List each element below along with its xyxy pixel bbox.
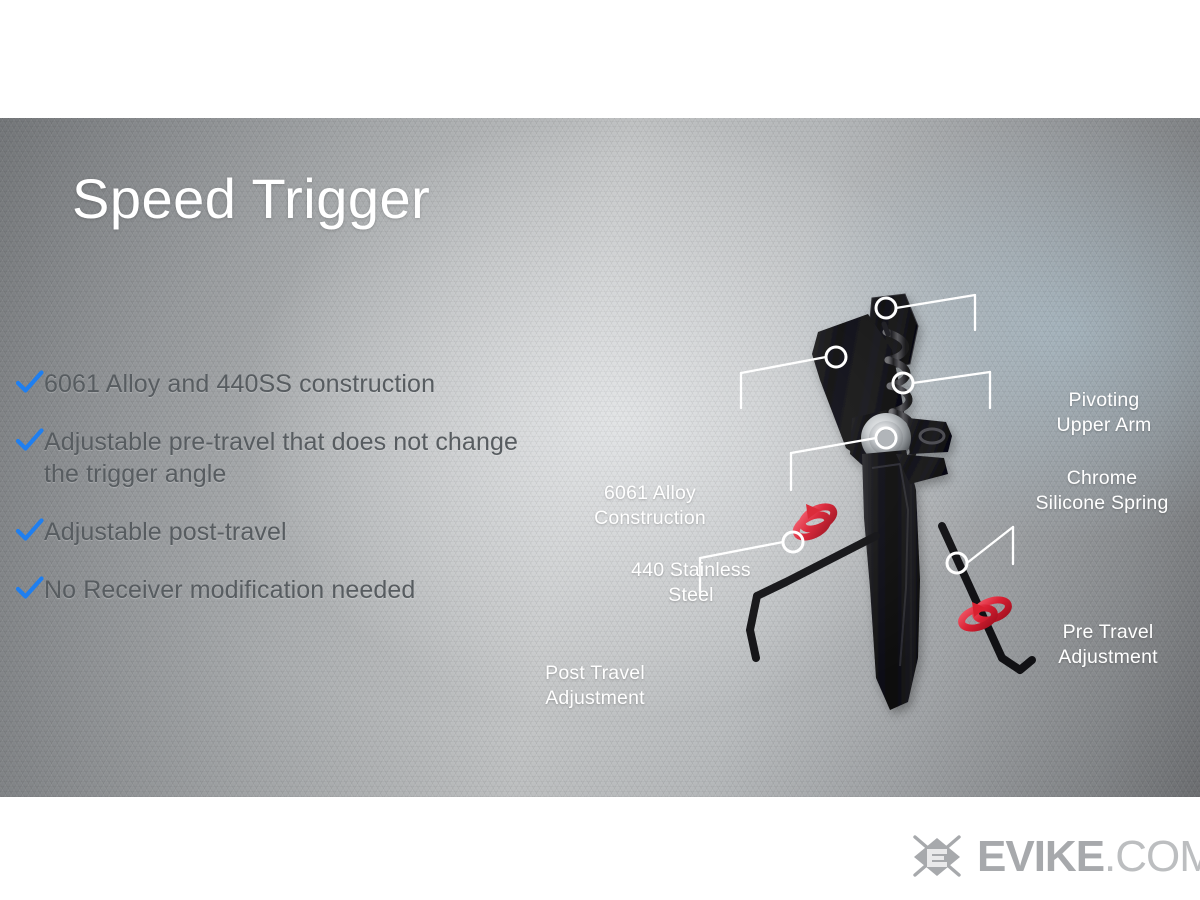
- evike-suffix: .COM: [1104, 832, 1200, 881]
- callout-line-1: Pivoting: [1016, 388, 1192, 413]
- page-title: Speed Trigger: [72, 166, 430, 231]
- callout-line-2: Adjustment: [500, 686, 690, 711]
- callout-line-1: 6061 Alloy: [560, 481, 740, 506]
- callout-pivoting-upper-arm: Pivoting Upper Arm: [1016, 388, 1192, 439]
- check-icon: [16, 428, 44, 454]
- list-item-label: Adjustable pre-travel that does not chan…: [44, 426, 526, 490]
- callout-pre-travel-adjustment: Pre Travel Adjustment: [1028, 620, 1188, 671]
- callout-line-1: Pre Travel: [1028, 620, 1188, 645]
- list-item-label: No Receiver modification needed: [44, 574, 415, 606]
- callout-line-2: Construction: [560, 506, 740, 531]
- callout-line-2: Upper Arm: [1016, 413, 1192, 438]
- check-icon: [16, 518, 44, 544]
- callout-440-stainless-steel: 440 Stainless Steel: [600, 558, 782, 609]
- list-item: Adjustable pre-travel that does not chan…: [16, 426, 526, 490]
- callout-chrome-silicone-spring: Chrome Silicone Spring: [1008, 466, 1196, 517]
- evike-brand: EVIKE: [977, 832, 1104, 881]
- evike-crossed-rifles-icon: [905, 829, 969, 885]
- list-item-label: Adjustable post-travel: [44, 516, 287, 548]
- list-item-label: 6061 Alloy and 440SS construction: [44, 368, 435, 400]
- evike-watermark: EVIKE.COM: [905, 829, 1200, 885]
- check-icon: [16, 576, 44, 602]
- list-item: Adjustable post-travel: [16, 516, 526, 548]
- callout-post-travel-adjustment: Post Travel Adjustment: [500, 661, 690, 712]
- list-item: 6061 Alloy and 440SS construction: [16, 368, 526, 400]
- callout-line-2: Silicone Spring: [1008, 491, 1196, 516]
- callout-line-1: 440 Stainless: [600, 558, 782, 583]
- trigger-blade-part: [862, 450, 920, 710]
- list-item: No Receiver modification needed: [16, 574, 526, 606]
- callout-line-1: Chrome: [1008, 466, 1196, 491]
- trigger-assembly-group: [812, 294, 952, 710]
- callout-line-2: Steel: [600, 583, 782, 608]
- evike-wordmark: EVIKE.COM: [977, 835, 1200, 879]
- slide-canvas: Speed Trigger 6061 Alloy and 440SS const…: [0, 118, 1200, 797]
- callout-6061-alloy-construction: 6061 Alloy Construction: [560, 481, 740, 532]
- check-icon: [16, 370, 44, 396]
- callout-line-2: Adjustment: [1028, 645, 1188, 670]
- feature-bullet-list: 6061 Alloy and 440SS construction Adjust…: [16, 368, 526, 632]
- callout-line-1: Post Travel: [500, 661, 690, 686]
